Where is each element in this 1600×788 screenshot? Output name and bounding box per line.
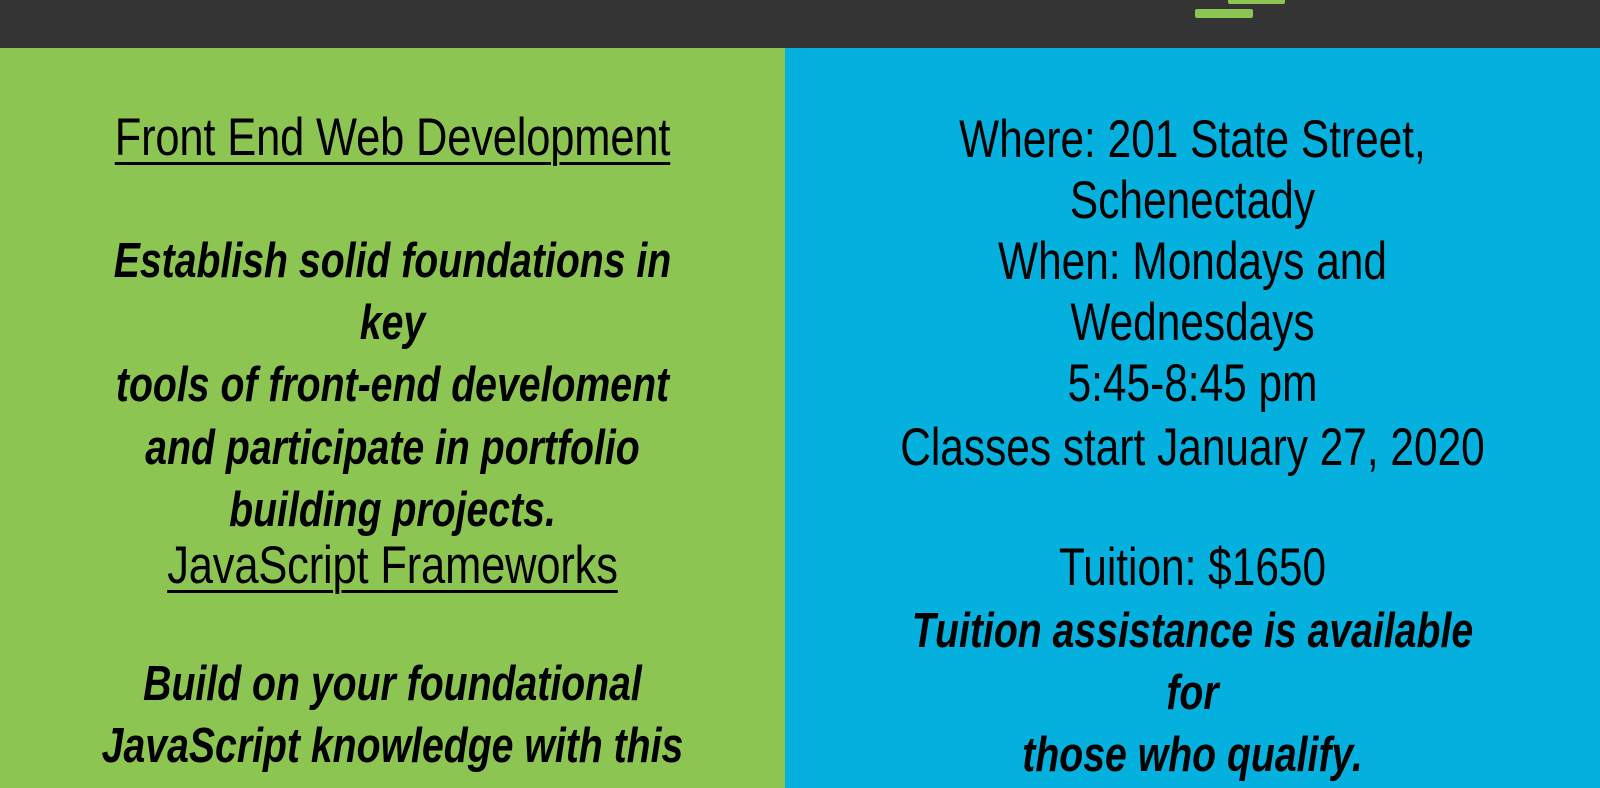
tuition-block: Tuition: $1650 [785, 538, 1600, 599]
course-2-description-line-2: JavaScript knowledge with this [101, 715, 684, 777]
tuition-assistance-block: Tuition assistance is available for thos… [785, 600, 1600, 787]
start-date-text: Classes start January 27, 2020 [889, 418, 1496, 479]
course-1-description: Establish solid foundations in key tools… [0, 230, 785, 541]
blue-panel: Where: 201 State Street, Schenectady Whe… [785, 48, 1600, 788]
slide-canvas: Front End Web Development Establish soli… [0, 0, 1600, 788]
course-2-title-block: JavaScript Frameworks [0, 538, 785, 593]
logo-icon[interactable] [1195, 0, 1290, 20]
course-1-description-line-2: tools of front-end develoment [101, 354, 684, 416]
logo-bar-lower-icon [1195, 9, 1253, 18]
course-1-title-block: Front End Web Development [0, 110, 785, 165]
green-panel: Front End Web Development Establish soli… [0, 48, 785, 788]
when-line-1: When: Mondays and Wednesdays [889, 232, 1496, 354]
course-2-description: Build on your foundational JavaScript kn… [0, 653, 785, 777]
where-when-block: Where: 201 State Street, Schenectady Whe… [785, 110, 1600, 415]
where-line-1: Where: 201 State Street, [889, 110, 1496, 171]
course-2-title-underline: JavaScript Frameworks [167, 536, 618, 595]
tuition-assistance-line-1: Tuition assistance is available for [889, 600, 1496, 724]
course-1-description-line-1: Establish solid foundations in key [101, 230, 684, 354]
course-2-description-line-1: Build on your foundational [101, 653, 684, 715]
logo-bar-upper-icon [1228, 0, 1285, 4]
where-line-2: Schenectady [889, 171, 1496, 232]
tuition-assistance-line-2: those who qualify. [889, 724, 1496, 786]
course-1-description-line-4: building projects. [101, 479, 684, 541]
when-line-2: 5:45-8:45 pm [889, 354, 1496, 415]
start-date-block: Classes start January 27, 2020 [785, 418, 1600, 479]
course-1-title: Front End Web Development [94, 110, 692, 165]
course-1-title-underline: Front End Web Development [115, 108, 671, 167]
top-header-bar [0, 0, 1600, 48]
course-2-title: JavaScript Frameworks [94, 538, 692, 593]
tuition-amount: Tuition: $1650 [889, 538, 1496, 599]
content-panels: Front End Web Development Establish soli… [0, 48, 1600, 788]
course-1-description-line-3: and participate in portfolio [101, 417, 684, 479]
